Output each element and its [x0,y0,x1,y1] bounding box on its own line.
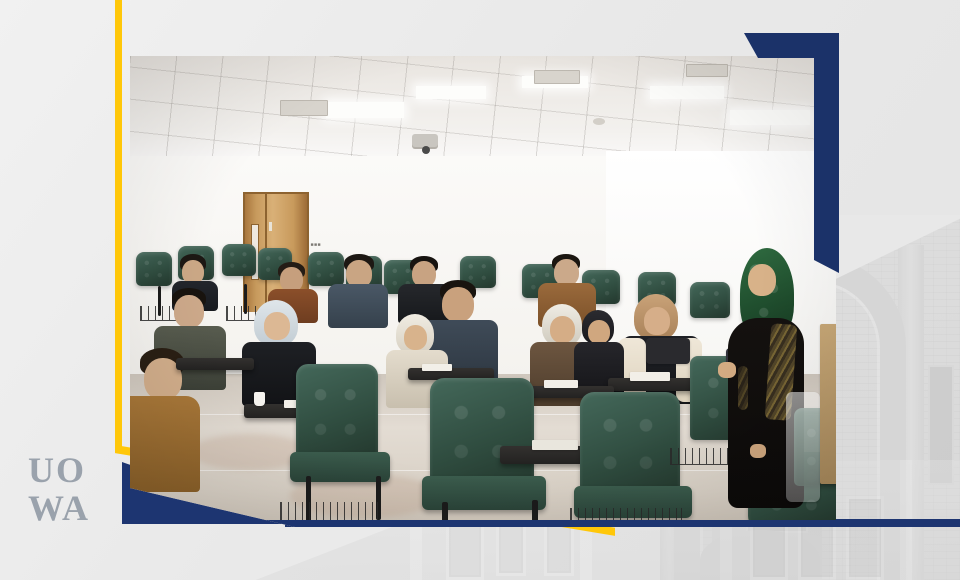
chair-foreground [430,378,534,486]
door-handle [269,222,272,231]
notebook [544,380,578,388]
chair-seat [290,452,390,482]
marker [532,440,578,450]
chair [222,244,256,276]
chair-foreground [580,392,680,496]
uowa-logo: UO WA [28,452,120,530]
chair [136,252,172,286]
banner-stage: ■■■ ■■■ [0,0,960,580]
logo-line-bottom: WA [28,490,120,526]
notebook [422,364,452,371]
logo-line-top: UO [28,452,120,488]
chair-basket [280,502,378,521]
podium [820,324,836,484]
navy-corner-bracket [744,33,839,273]
ceiling [130,56,836,164]
bag [646,338,690,364]
smoke-detector [593,118,605,125]
desk-tablet-arm [176,358,254,370]
projector-lens [422,146,430,154]
classroom-photo: ■■■ ■■■ [130,56,836,527]
notebook [630,372,670,381]
paper-cup [254,392,265,406]
chair-foreground [296,364,378,460]
plastic-wrap [786,392,820,502]
yellow-vertical-stripe [115,0,122,452]
student [328,254,388,326]
chair-seat [422,476,546,510]
